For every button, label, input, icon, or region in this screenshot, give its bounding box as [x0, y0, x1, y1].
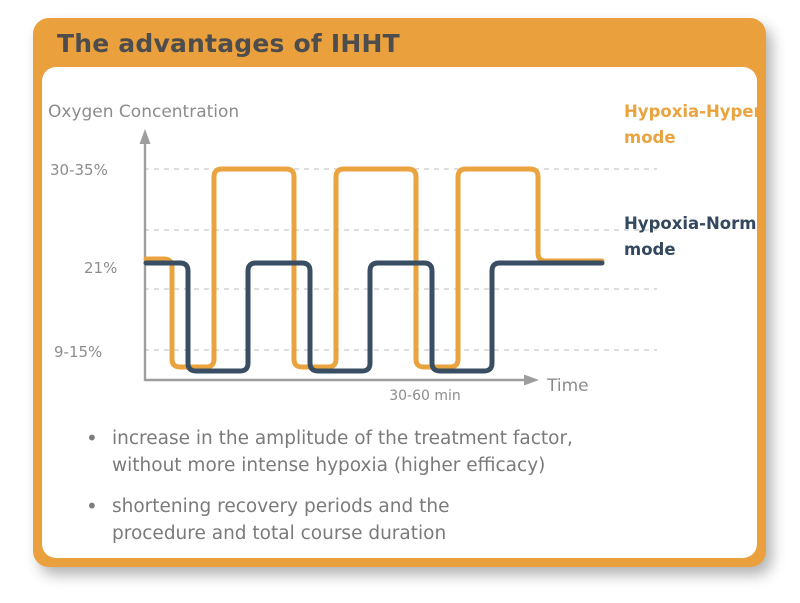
bullet-marker-icon: •: [82, 425, 112, 451]
card-body-panel: Oxygen Concentration: [42, 67, 757, 558]
y-axis-title: Oxygen Concentration: [48, 102, 239, 122]
card-header: The advantages of IHHT: [33, 18, 766, 68]
advantages-card: The advantages of IHHT Oxygen Concentrat…: [33, 18, 766, 567]
advantages-list: • increase in the amplitude of the treat…: [82, 425, 732, 558]
y-tick-mid: 21%: [84, 259, 117, 277]
x-axis-title: Time: [546, 376, 589, 396]
x-axis: [145, 375, 539, 386]
list-item: • increase in the amplitude of the treat…: [82, 425, 732, 479]
legend-hyperoxia-line2: mode: [624, 128, 676, 147]
y-axis: [140, 129, 151, 381]
series-hypoxia-hyperoxia: [146, 169, 602, 367]
y-tick-high: 30-35%: [50, 161, 108, 179]
legend-normoxia-line2: mode: [624, 240, 676, 259]
page-title: The advantages of IHHT: [57, 29, 400, 58]
list-item: • shortening recovery periods and the pr…: [82, 493, 732, 547]
x-axis-duration-note: 30-60 min: [389, 388, 461, 404]
y-tick-low: 9-15%: [54, 343, 102, 361]
bullet-marker-icon: •: [82, 493, 112, 519]
legend-normoxia-line1: Hypoxia-Normoxia: [624, 214, 757, 233]
list-item-text: increase in the amplitude of the treatme…: [112, 425, 573, 479]
legend-hyperoxia-line1: Hypoxia-Hyperoxia: [624, 102, 757, 121]
oxygen-concentration-chart: Oxygen Concentration: [42, 67, 757, 427]
list-item-text: shortening recovery periods and the proc…: [112, 493, 449, 547]
